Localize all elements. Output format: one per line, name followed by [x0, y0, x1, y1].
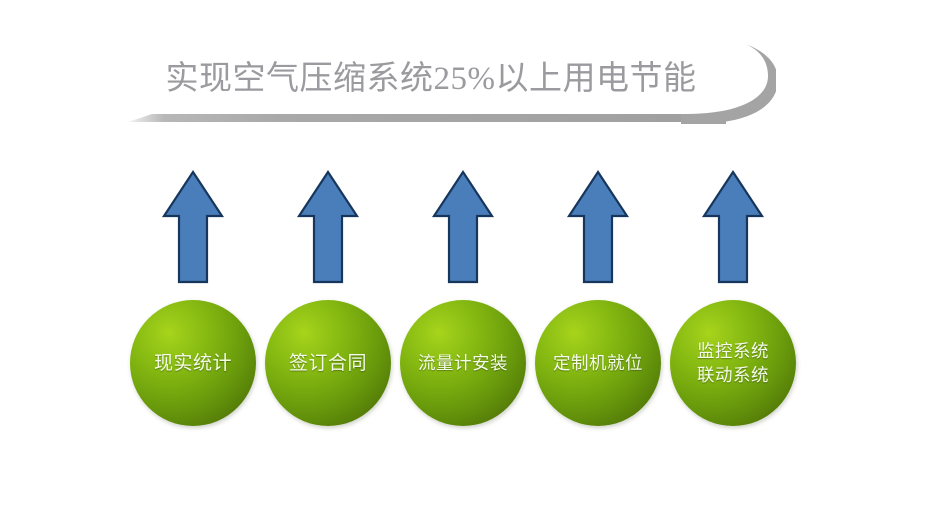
process-step-5[interactable]: 监控系统 联动系统 — [670, 168, 796, 426]
process-step-4[interactable]: 定制机就位 — [535, 168, 661, 426]
process-step-label: 签订合同 — [285, 351, 371, 376]
up-arrow-icon — [565, 168, 631, 286]
up-arrow-icon — [700, 168, 766, 286]
process-node-sphere[interactable]: 现实统计 — [130, 300, 256, 426]
process-step-label: 定制机就位 — [549, 351, 647, 376]
process-node-sphere[interactable]: 流量计安装 — [400, 300, 526, 426]
process-step-label: 监控系统 联动系统 — [693, 339, 773, 387]
up-arrow-icon — [295, 168, 361, 286]
up-arrow-icon — [160, 168, 226, 286]
process-flow-diagram: 现实统计 签订合同 流量计安装 — [0, 0, 945, 529]
process-node-sphere[interactable]: 监控系统 联动系统 — [670, 300, 796, 426]
process-step-1[interactable]: 现实统计 — [130, 168, 256, 426]
process-node-sphere[interactable]: 定制机就位 — [535, 300, 661, 426]
process-node-sphere[interactable]: 签订合同 — [265, 300, 391, 426]
process-step-3[interactable]: 流量计安装 — [400, 168, 526, 426]
slide-canvas: 实现空气压缩系统25%以上用电节能 现实统计 签订合同 — [0, 0, 945, 529]
up-arrow-icon — [430, 168, 496, 286]
process-step-2[interactable]: 签订合同 — [265, 168, 391, 426]
process-step-label: 现实统计 — [150, 351, 236, 376]
process-step-label: 流量计安装 — [414, 351, 512, 376]
